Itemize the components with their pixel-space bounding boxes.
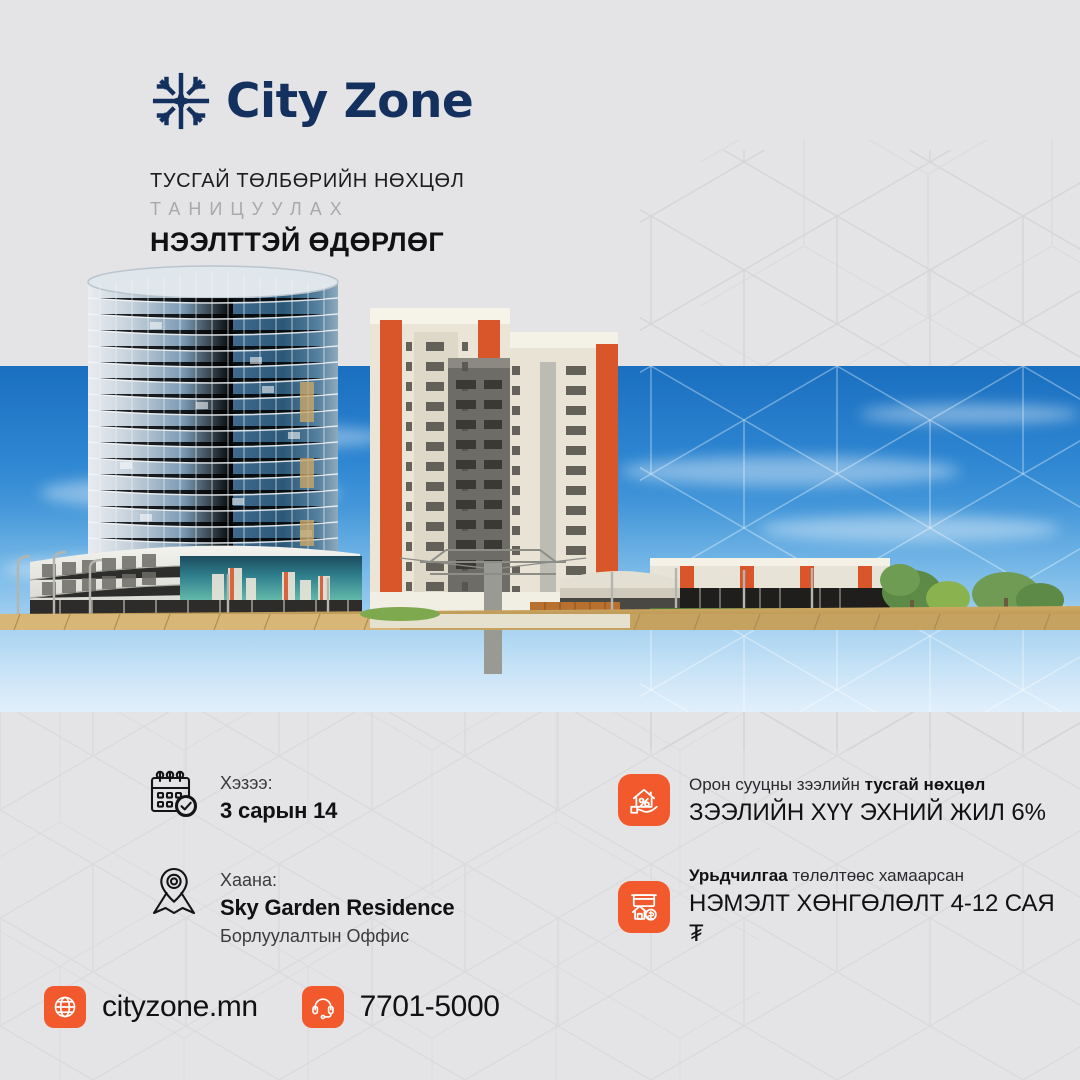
event-where: Хаана: Sky Garden Residence Борлуулалтын… bbox=[148, 865, 568, 949]
benefit-discount-headline: НЭМЭЛТ ХӨНГӨЛӨЛТ 4-12 САЯ ₮ bbox=[689, 889, 1058, 950]
brand-logo[interactable]: City Zone bbox=[150, 70, 473, 132]
headline-line-3: НЭЭЛТТЭЙ ӨДӨРЛӨГ bbox=[150, 226, 770, 258]
cloud bbox=[760, 516, 1060, 542]
house-percent-hand-icon-badge bbox=[618, 774, 670, 826]
event-where-texts: Хаана: Sky Garden Residence Борлуулалтын… bbox=[220, 865, 454, 949]
benefit-discount-top: Урьдчилгаа төлөлтөөс хамаарсан bbox=[689, 863, 1058, 889]
benefit-discount-texts: Урьдчилгаа төлөлтөөс хамаарсан НЭМЭЛТ ХӨ… bbox=[689, 863, 1058, 950]
event-details-column: Хэзээ: 3 сарын 14 Хаана: Sky Garden Resi… bbox=[148, 768, 568, 949]
benefit-loan-rate-headline: ЗЭЭЛИЙН ХҮҮ ЭХНИЙ ЖИЛ 6% bbox=[689, 798, 1046, 829]
event-when: Хэзээ: 3 сарын 14 bbox=[148, 768, 568, 827]
benefit-discount-top-bold: Урьдчилгаа bbox=[689, 866, 788, 885]
headline-line-2: ТАНИЦУУЛАХ bbox=[150, 196, 770, 223]
cloud bbox=[170, 426, 390, 448]
globe-icon bbox=[52, 994, 78, 1020]
hero-photo-band bbox=[0, 366, 1080, 712]
benefit-loan-rate-top: Орон сууцны зээлийн тусгай нөхцөл bbox=[689, 772, 1046, 798]
benefit-loan-rate-top-plain: Орон сууцны зээлийн bbox=[689, 775, 865, 794]
starburst-snowflake-icon bbox=[150, 70, 212, 132]
when-label: Хэзээ: bbox=[220, 770, 337, 796]
benefits-column: Орон сууцны зээлийн тусгай нөхцөл ЗЭЭЛИЙ… bbox=[618, 772, 1058, 950]
house-percent-hand-icon bbox=[627, 783, 661, 817]
contact-website[interactable]: cityzone.mn bbox=[44, 986, 258, 1028]
benefit-loan-rate-top-bold: тусгай нөхцөл bbox=[865, 775, 986, 794]
where-value: Sky Garden Residence bbox=[220, 893, 454, 924]
when-value: 3 сарын 14 bbox=[220, 796, 337, 827]
footer-contacts: cityzone.mn 7701-5000 bbox=[44, 986, 500, 1028]
cloud bbox=[860, 404, 1080, 424]
benefit-loan-rate: Орон сууцны зээлийн тусгай нөхцөл ЗЭЭЛИЙ… bbox=[618, 772, 1058, 828]
phone-text: 7701-5000 bbox=[360, 990, 500, 1024]
event-when-texts: Хэзээ: 3 сарын 14 bbox=[220, 768, 337, 827]
cloud bbox=[40, 476, 340, 510]
brand-name: City Zone bbox=[226, 78, 473, 125]
headline-block: ТУСГАЙ ТӨЛБӨРИЙН НӨХЦӨЛ ТАНИЦУУЛАХ НЭЭЛТ… bbox=[150, 168, 770, 258]
benefit-discount-top-plain: төлөлтөөс хамаарсан bbox=[788, 866, 964, 885]
where-label: Хаана: bbox=[220, 867, 454, 893]
house-money-discount-icon-badge bbox=[618, 881, 670, 933]
where-value-sub: Борлуулалтын Оффис bbox=[220, 924, 454, 949]
cloud bbox=[620, 456, 960, 486]
headset-icon bbox=[310, 994, 336, 1020]
map-pin-icon bbox=[148, 865, 200, 917]
headset-icon-badge bbox=[302, 986, 344, 1028]
cloud bbox=[0, 556, 260, 582]
house-money-discount-icon bbox=[627, 890, 661, 924]
globe-icon-badge bbox=[44, 986, 86, 1028]
benefit-loan-rate-texts: Орон сууцны зээлийн тусгай нөхцөл ЗЭЭЛИЙ… bbox=[689, 772, 1046, 828]
calendar-check-icon bbox=[148, 768, 200, 820]
benefit-discount: Урьдчилгаа төлөлтөөс хамаарсан НЭМЭЛТ ХӨ… bbox=[618, 863, 1058, 950]
headline-line-1: ТУСГАЙ ТӨЛБӨРИЙН НӨХЦӨЛ bbox=[150, 168, 770, 195]
contact-phone[interactable]: 7701-5000 bbox=[302, 986, 500, 1028]
website-text: cityzone.mn bbox=[102, 990, 258, 1024]
